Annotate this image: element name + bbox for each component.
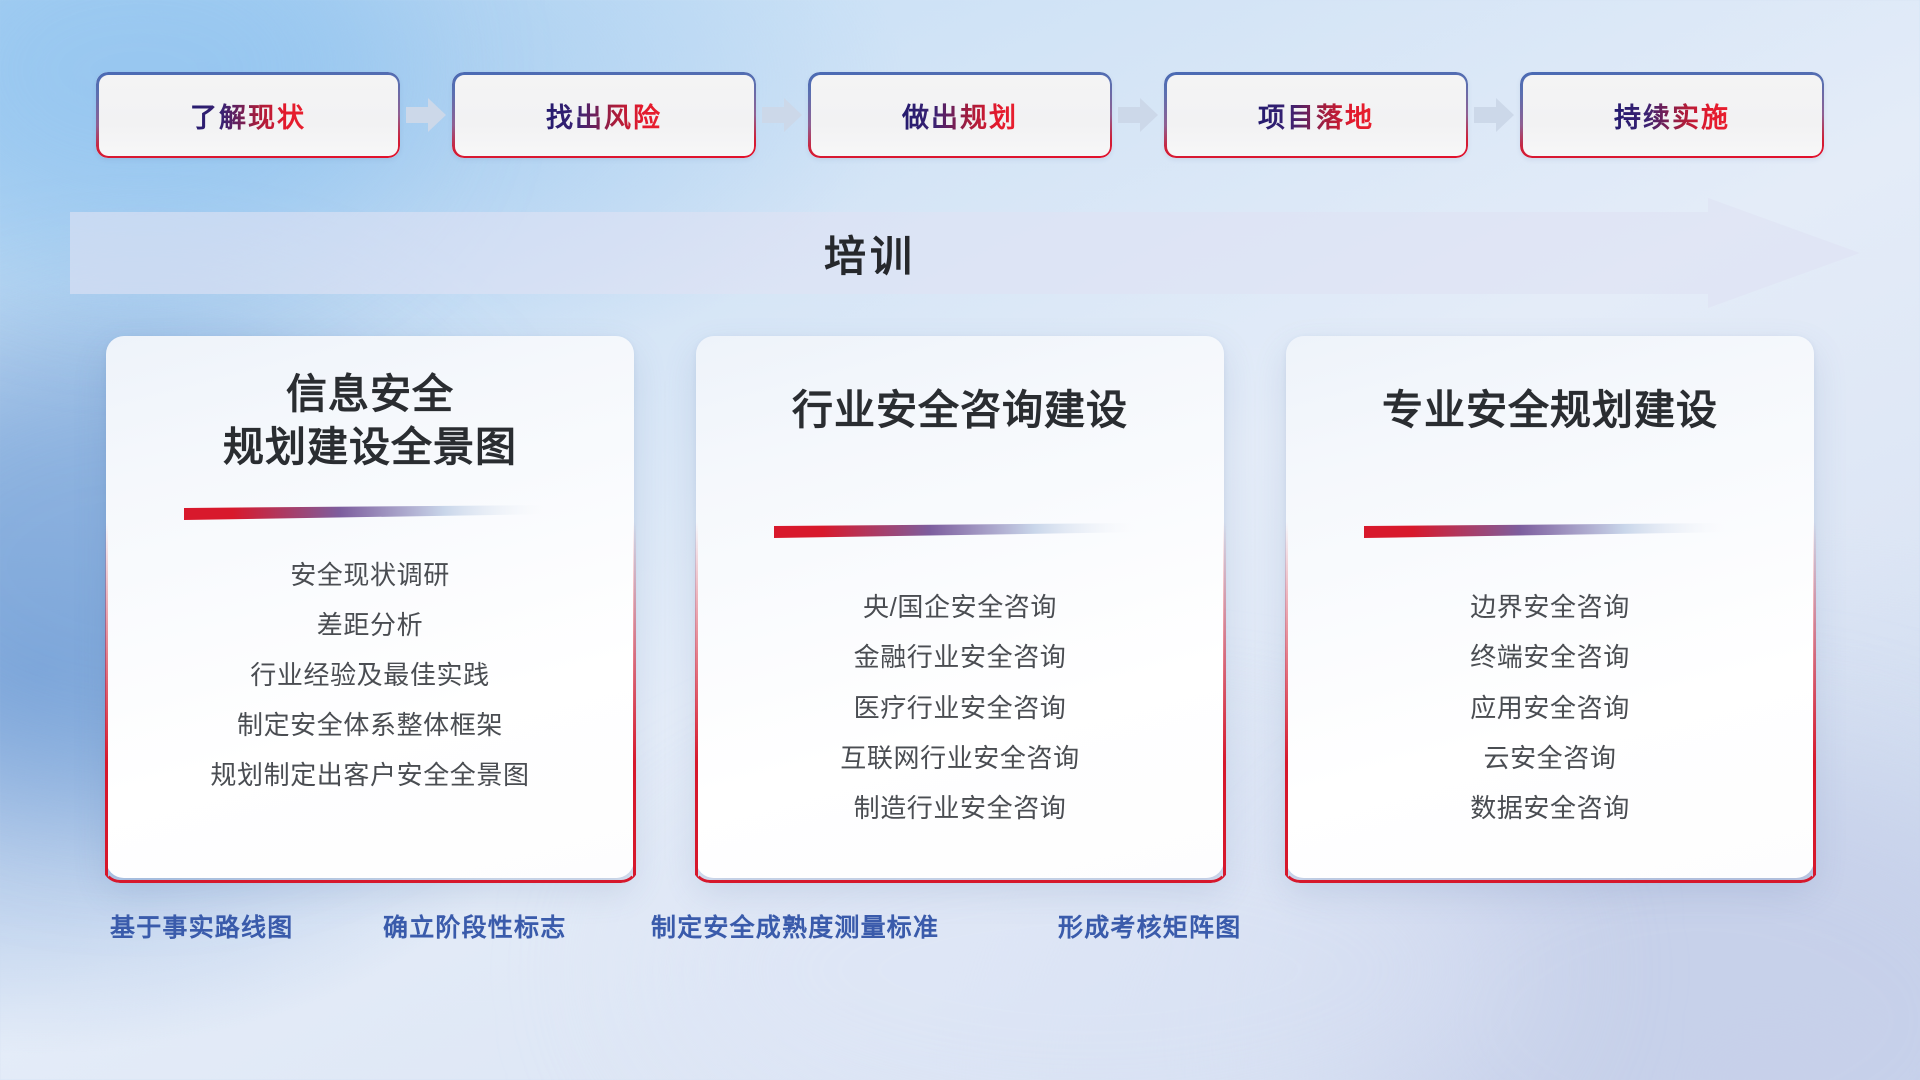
card-list-item: 应用安全咨询	[1470, 687, 1630, 729]
process-step-row: 了解现状找出风险做出规划项目落地持续实施	[0, 72, 1920, 158]
card-item-list: 边界安全咨询终端安全咨询应用安全咨询云安全咨询数据安全咨询	[1470, 586, 1630, 829]
card-list-item: 金融行业安全咨询	[854, 636, 1067, 678]
process-step-label: 找出风险	[546, 96, 662, 135]
card-list-item: 差距分析	[317, 604, 423, 646]
process-step-label: 了解现状	[190, 96, 306, 135]
service-card-2[interactable]: 行业安全咨询建设央/国企安全咨询金融行业安全咨询医疗行业安全咨询互联网行业安全咨…	[696, 336, 1224, 878]
card-list-item: 制造行业安全咨询	[854, 787, 1067, 829]
card-title: 专业安全规划建设	[1382, 384, 1718, 437]
card-divider	[774, 523, 1146, 538]
caption-row: 基于事实路线图确立阶段性标志制定安全成熟度测量标准形成考核矩阵图	[0, 908, 1920, 958]
card-item-list: 央/国企安全咨询金融行业安全咨询医疗行业安全咨询互联网行业安全咨询制造行业安全咨…	[840, 586, 1079, 829]
card-inner: 行业安全咨询建设央/国企安全咨询金融行业安全咨询医疗行业安全咨询互联网行业安全咨…	[696, 336, 1224, 878]
divider-gradient-bar	[184, 505, 556, 520]
process-step-1[interactable]: 了解现状	[96, 72, 400, 158]
card-inner: 信息安全 规划建设全景图安全现状调研差距分析行业经验及最佳实践制定安全体系整体框…	[106, 336, 634, 878]
card-list-item: 安全现状调研	[290, 554, 450, 596]
outcome-caption-2: 确立阶段性标志	[383, 908, 566, 944]
process-step-5[interactable]: 持续实施	[1520, 72, 1824, 158]
card-list-item: 云安全咨询	[1483, 737, 1616, 779]
right-arrow-icon	[406, 98, 446, 132]
process-step-label: 做出规划	[902, 96, 1018, 135]
process-step-3[interactable]: 做出规划	[808, 72, 1112, 158]
card-list-item: 互联网行业安全咨询	[840, 737, 1079, 779]
card-divider	[184, 505, 556, 520]
outcome-caption-1: 基于事实路线图	[110, 908, 293, 944]
card-list-item: 医疗行业安全咨询	[854, 687, 1067, 729]
process-step-2[interactable]: 找出风险	[452, 72, 756, 158]
card-list-item: 央/国企安全咨询	[863, 586, 1057, 628]
right-arrow-icon	[1118, 98, 1158, 132]
card-list-item: 数据安全咨询	[1470, 787, 1630, 829]
card-list-item: 制定安全体系整体框架	[237, 704, 503, 746]
step-arrow-1	[400, 72, 452, 158]
card-list-item: 行业经验及最佳实践	[250, 654, 489, 696]
training-banner-label: 培训	[70, 198, 1670, 308]
card-title: 行业安全咨询建设	[792, 384, 1128, 437]
outcome-caption-3: 制定安全成熟度测量标准	[651, 908, 939, 944]
right-arrow-icon	[1474, 98, 1514, 132]
process-step-label: 项目落地	[1258, 96, 1374, 135]
training-banner: 培训	[70, 198, 1860, 308]
service-card-3[interactable]: 专业安全规划建设边界安全咨询终端安全咨询应用安全咨询云安全咨询数据安全咨询	[1286, 336, 1814, 878]
step-arrow-4	[1468, 72, 1520, 158]
right-arrow-icon	[762, 98, 802, 132]
step-arrow-2	[756, 72, 808, 158]
card-title: 信息安全 规划建设全景图	[223, 368, 517, 475]
divider-gradient-bar	[774, 523, 1146, 538]
card-row: 信息安全 规划建设全景图安全现状调研差距分析行业经验及最佳实践制定安全体系整体框…	[0, 336, 1920, 878]
process-step-label: 持续实施	[1614, 96, 1730, 135]
service-card-1[interactable]: 信息安全 规划建设全景图安全现状调研差距分析行业经验及最佳实践制定安全体系整体框…	[106, 336, 634, 878]
card-list-item: 规划制定出客户安全全景图	[210, 754, 529, 796]
card-item-list: 安全现状调研差距分析行业经验及最佳实践制定安全体系整体框架规划制定出客户安全全景…	[210, 554, 529, 797]
process-step-4[interactable]: 项目落地	[1164, 72, 1468, 158]
card-list-item: 边界安全咨询	[1470, 586, 1630, 628]
card-inner: 专业安全规划建设边界安全咨询终端安全咨询应用安全咨询云安全咨询数据安全咨询	[1286, 336, 1814, 878]
card-list-item: 终端安全咨询	[1470, 636, 1630, 678]
card-divider	[1364, 523, 1736, 538]
outcome-caption-4: 形成考核矩阵图	[1058, 908, 1241, 944]
step-arrow-3	[1112, 72, 1164, 158]
divider-gradient-bar	[1364, 523, 1736, 538]
